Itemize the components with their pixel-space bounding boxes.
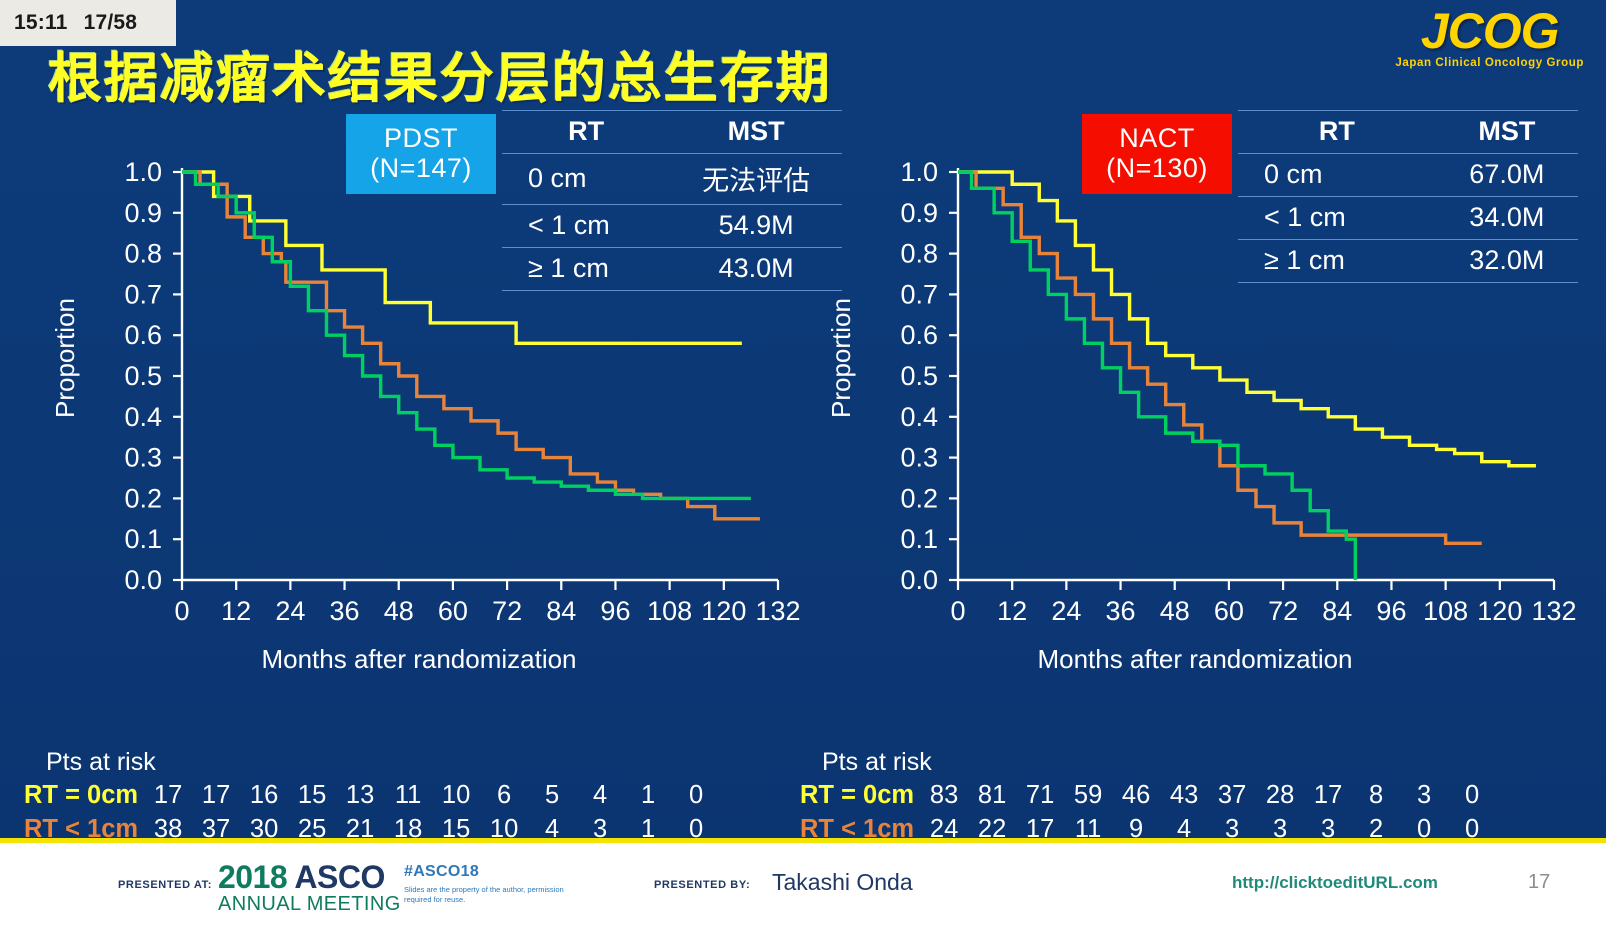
presenter-name: Takashi Onda bbox=[772, 869, 913, 896]
risk-count-cell: 6 bbox=[480, 779, 528, 813]
asco-name: ASCO bbox=[294, 859, 384, 895]
svg-text:0.2: 0.2 bbox=[900, 483, 938, 513]
svg-text:0.3: 0.3 bbox=[124, 443, 162, 473]
risk-count-cell: 17 bbox=[144, 779, 192, 813]
km-chart-pdst: Proportion Months after randomization 0.… bbox=[24, 160, 814, 730]
svg-text:132: 132 bbox=[1531, 596, 1576, 626]
asco-logo: 2018 ASCO ANNUAL MEETING bbox=[218, 861, 401, 914]
km-plot-area-pdst: 0.00.10.20.30.40.50.60.70.80.91.00122436… bbox=[24, 160, 814, 640]
svg-text:0: 0 bbox=[174, 596, 189, 626]
jcog-logo: JCOG Japan Clinical Oncology Group bbox=[1395, 8, 1584, 69]
asco-hashtag-block: #ASCO18 Slides are the property of the a… bbox=[404, 863, 574, 905]
risk-count-cell: 4 bbox=[576, 779, 624, 813]
x-axis-label: Months after randomization bbox=[800, 644, 1590, 675]
table-header-row: RT MST bbox=[502, 111, 842, 154]
risk-count-cell: 15 bbox=[288, 779, 336, 813]
svg-text:36: 36 bbox=[330, 596, 360, 626]
mst-header-mst: MST bbox=[1436, 111, 1578, 154]
km-plot-area-nact: 0.00.10.20.30.40.50.60.70.80.91.00122436… bbox=[800, 160, 1590, 640]
svg-text:0.4: 0.4 bbox=[124, 402, 162, 432]
slide-footer: PRESENTED AT: 2018 ASCO ANNUAL MEETING #… bbox=[0, 838, 1606, 927]
svg-text:0.3: 0.3 bbox=[900, 443, 938, 473]
risk-count-cell: 1 bbox=[624, 779, 672, 813]
risk-count-cell: 37 bbox=[1208, 779, 1256, 813]
svg-text:72: 72 bbox=[492, 596, 522, 626]
svg-text:48: 48 bbox=[1160, 596, 1190, 626]
y-axis-label: Proportion bbox=[826, 298, 857, 418]
clock-time: 15:11 bbox=[14, 11, 68, 35]
risk-row: RT = 0cm838171594643372817830 bbox=[800, 779, 1496, 813]
asco-year: 2018 bbox=[218, 859, 294, 895]
page-number: 17 bbox=[1528, 871, 1550, 894]
svg-text:0.0: 0.0 bbox=[900, 565, 938, 595]
risk-table-header: Pts at risk bbox=[822, 748, 1590, 777]
risk-count-cell: 11 bbox=[384, 779, 432, 813]
svg-text:0: 0 bbox=[950, 596, 965, 626]
svg-text:12: 12 bbox=[997, 596, 1027, 626]
table-header-row: RT MST bbox=[1238, 111, 1578, 154]
svg-text:108: 108 bbox=[647, 596, 692, 626]
svg-text:108: 108 bbox=[1423, 596, 1468, 626]
svg-text:36: 36 bbox=[1106, 596, 1136, 626]
svg-text:120: 120 bbox=[1477, 596, 1522, 626]
y-axis-label: Proportion bbox=[50, 298, 81, 418]
jcog-logo-mark: JCOG bbox=[1395, 8, 1584, 56]
risk-count-cell: 8 bbox=[1352, 779, 1400, 813]
asco-meeting-label: ANNUAL MEETING bbox=[218, 894, 401, 914]
svg-text:60: 60 bbox=[438, 596, 468, 626]
svg-text:120: 120 bbox=[701, 596, 746, 626]
risk-count-cell: 28 bbox=[1256, 779, 1304, 813]
presented-at-label: PRESENTED AT: bbox=[118, 879, 212, 891]
svg-text:60: 60 bbox=[1214, 596, 1244, 626]
risk-row-label: RT = 0cm bbox=[800, 779, 920, 813]
hashtag-text: #ASCO18 bbox=[404, 863, 574, 881]
asco-logo-line1: 2018 ASCO bbox=[218, 861, 401, 893]
svg-text:0.1: 0.1 bbox=[124, 524, 162, 554]
media-timestamp-overlay: 15:11 17/58 bbox=[0, 0, 176, 46]
risk-count-cell: 3 bbox=[1400, 779, 1448, 813]
slide-canvas: 15:11 17/58 根据减瘤术结果分层的总生存期 JCOG Japan Cl… bbox=[0, 0, 1606, 927]
risk-count-cell: 10 bbox=[432, 779, 480, 813]
svg-text:96: 96 bbox=[600, 596, 630, 626]
presented-by-label: PRESENTED BY: bbox=[654, 879, 750, 891]
svg-text:24: 24 bbox=[275, 596, 305, 626]
svg-text:1.0: 1.0 bbox=[124, 160, 162, 187]
slide-counter: 17/58 bbox=[84, 11, 138, 35]
svg-text:132: 132 bbox=[755, 596, 800, 626]
svg-text:0.2: 0.2 bbox=[124, 483, 162, 513]
risk-count-cell: 59 bbox=[1064, 779, 1112, 813]
risk-count-cell: 43 bbox=[1160, 779, 1208, 813]
risk-count-cell: 17 bbox=[1304, 779, 1352, 813]
risk-count-cell: 13 bbox=[336, 779, 384, 813]
risk-count-cell: 0 bbox=[672, 779, 720, 813]
risk-count-cell: 46 bbox=[1112, 779, 1160, 813]
x-axis-label: Months after randomization bbox=[24, 644, 814, 675]
risk-row: RT = 0cm1717161513111065410 bbox=[24, 779, 720, 813]
risk-count-cell: 17 bbox=[192, 779, 240, 813]
km-chart-nact: Proportion Months after randomization 0.… bbox=[800, 160, 1590, 730]
badge-nact-name: NACT bbox=[1119, 124, 1195, 154]
risk-table-header: Pts at risk bbox=[46, 748, 814, 777]
svg-text:0.5: 0.5 bbox=[124, 361, 162, 391]
svg-text:84: 84 bbox=[546, 596, 576, 626]
svg-text:0.8: 0.8 bbox=[900, 239, 938, 269]
mst-header-mst: MST bbox=[670, 111, 842, 154]
risk-count-cell: 81 bbox=[968, 779, 1016, 813]
svg-text:96: 96 bbox=[1376, 596, 1406, 626]
risk-row-label: RT = 0cm bbox=[24, 779, 144, 813]
svg-text:12: 12 bbox=[221, 596, 251, 626]
svg-text:0.9: 0.9 bbox=[900, 198, 938, 228]
svg-text:48: 48 bbox=[384, 596, 414, 626]
footer-url[interactable]: http://clicktoeditURL.com bbox=[1232, 873, 1438, 893]
svg-text:0.4: 0.4 bbox=[900, 402, 938, 432]
svg-text:1.0: 1.0 bbox=[900, 160, 938, 187]
svg-text:0.6: 0.6 bbox=[900, 320, 938, 350]
badge-pdst-name: PDST bbox=[384, 124, 458, 154]
svg-text:0.1: 0.1 bbox=[900, 524, 938, 554]
mst-header-rt: RT bbox=[502, 111, 670, 154]
risk-count-cell: 83 bbox=[920, 779, 968, 813]
risk-count-cell: 5 bbox=[528, 779, 576, 813]
risk-count-cell: 71 bbox=[1016, 779, 1064, 813]
jcog-logo-subtitle: Japan Clinical Oncology Group bbox=[1395, 57, 1584, 69]
svg-text:0.8: 0.8 bbox=[124, 239, 162, 269]
svg-text:72: 72 bbox=[1268, 596, 1298, 626]
reuse-disclaimer: Slides are the property of the author, p… bbox=[404, 885, 574, 905]
svg-text:24: 24 bbox=[1051, 596, 1081, 626]
svg-text:0.7: 0.7 bbox=[900, 279, 938, 309]
risk-count-cell: 0 bbox=[1448, 779, 1496, 813]
svg-text:0.0: 0.0 bbox=[124, 565, 162, 595]
svg-text:0.6: 0.6 bbox=[124, 320, 162, 350]
svg-text:0.7: 0.7 bbox=[124, 279, 162, 309]
svg-text:0.5: 0.5 bbox=[900, 361, 938, 391]
svg-text:0.9: 0.9 bbox=[124, 198, 162, 228]
mst-header-rt: RT bbox=[1238, 111, 1436, 154]
svg-text:84: 84 bbox=[1322, 596, 1352, 626]
risk-count-cell: 16 bbox=[240, 779, 288, 813]
